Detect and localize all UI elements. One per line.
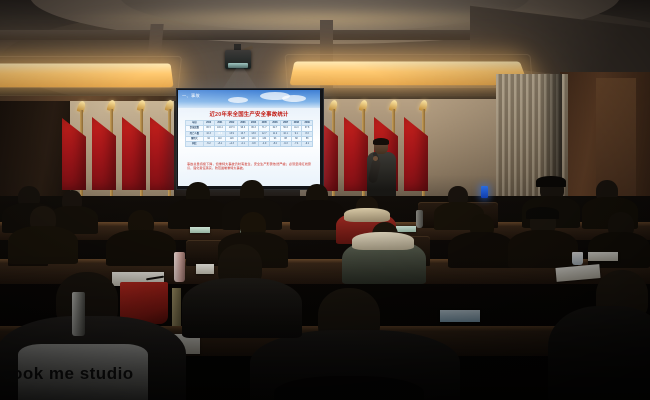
wall-trim-molding <box>0 96 178 101</box>
recessed-light-panel-left <box>0 63 174 87</box>
table-cell: -8.2 <box>270 142 281 147</box>
presenter-hand <box>373 156 378 161</box>
table-cell: -2.1 <box>238 142 249 147</box>
fur-hood-trim <box>344 208 390 222</box>
attendee-shoulders <box>448 232 514 268</box>
attendee-shoulders <box>182 278 302 338</box>
recessed-light-panel-right <box>289 61 528 85</box>
jacket-print-text: cook me studio <box>2 364 134 384</box>
table-cell: +6.1 <box>214 142 226 147</box>
smartphone-screen[interactable] <box>481 186 488 198</box>
table-cell: -9.3 <box>280 142 291 147</box>
paper-document <box>588 252 618 261</box>
thermos-flask-pink <box>174 252 185 282</box>
paper-document <box>396 226 416 232</box>
paper-document-blue <box>440 310 480 322</box>
presentation-slide: 一、事故 近20年来全国生产安全事故统计 年份20002001200220032… <box>178 90 320 186</box>
slide-section-label: 一、事故 <box>182 93 200 99</box>
conference-room-photo: 一、事故 近20年来全国生产安全事故统计 年份20002001200220032… <box>0 0 650 400</box>
table-row: 同比-5.2+6.1+4.3-2.1-6.8-4.9-8.2-9.3-7.4-9… <box>186 142 313 147</box>
paper-document <box>196 264 214 274</box>
thermos-flask-steel <box>72 292 85 336</box>
attendee-shoulders <box>548 306 650 400</box>
baseball-cap-icon <box>526 207 559 219</box>
attendee-shoulders <box>588 232 650 268</box>
presenter-hair <box>373 138 389 145</box>
projector-lens <box>228 63 248 68</box>
slide-cloud <box>228 97 248 103</box>
attendee-silhouette <box>274 376 424 400</box>
slide-title: 近20年来全国生产安全事故统计 <box>178 110 320 118</box>
table-cell: -6.8 <box>248 142 259 147</box>
attendee-shoulders <box>508 230 578 268</box>
fur-hood-trim <box>352 232 414 250</box>
table-row-label: 同比 <box>186 142 204 147</box>
thermos-flask <box>416 210 423 228</box>
paper-cup <box>572 252 583 265</box>
presenter <box>366 139 398 203</box>
baseball-cap-icon <box>536 176 566 187</box>
table-cell: -9.1 <box>302 142 313 147</box>
table-cell: -7.4 <box>291 142 302 147</box>
table-cell: -4.9 <box>259 142 270 147</box>
attendee-shoulders <box>8 226 78 264</box>
slide-data-table: 年份20002001200220032004200520062007200820… <box>185 120 313 147</box>
paper-document <box>190 227 210 233</box>
slide-cloud <box>282 95 306 102</box>
attendee-shoulders <box>168 199 228 229</box>
attendee-shoulders <box>106 230 176 266</box>
table-cell: -5.2 <box>203 142 214 147</box>
slide-note-text: 事故总量持续下降，但重特大事故仍时有发生，安全生产形势依然严峻；必须坚持红线意识… <box>187 162 311 171</box>
table-cell: +4.3 <box>226 142 238 147</box>
